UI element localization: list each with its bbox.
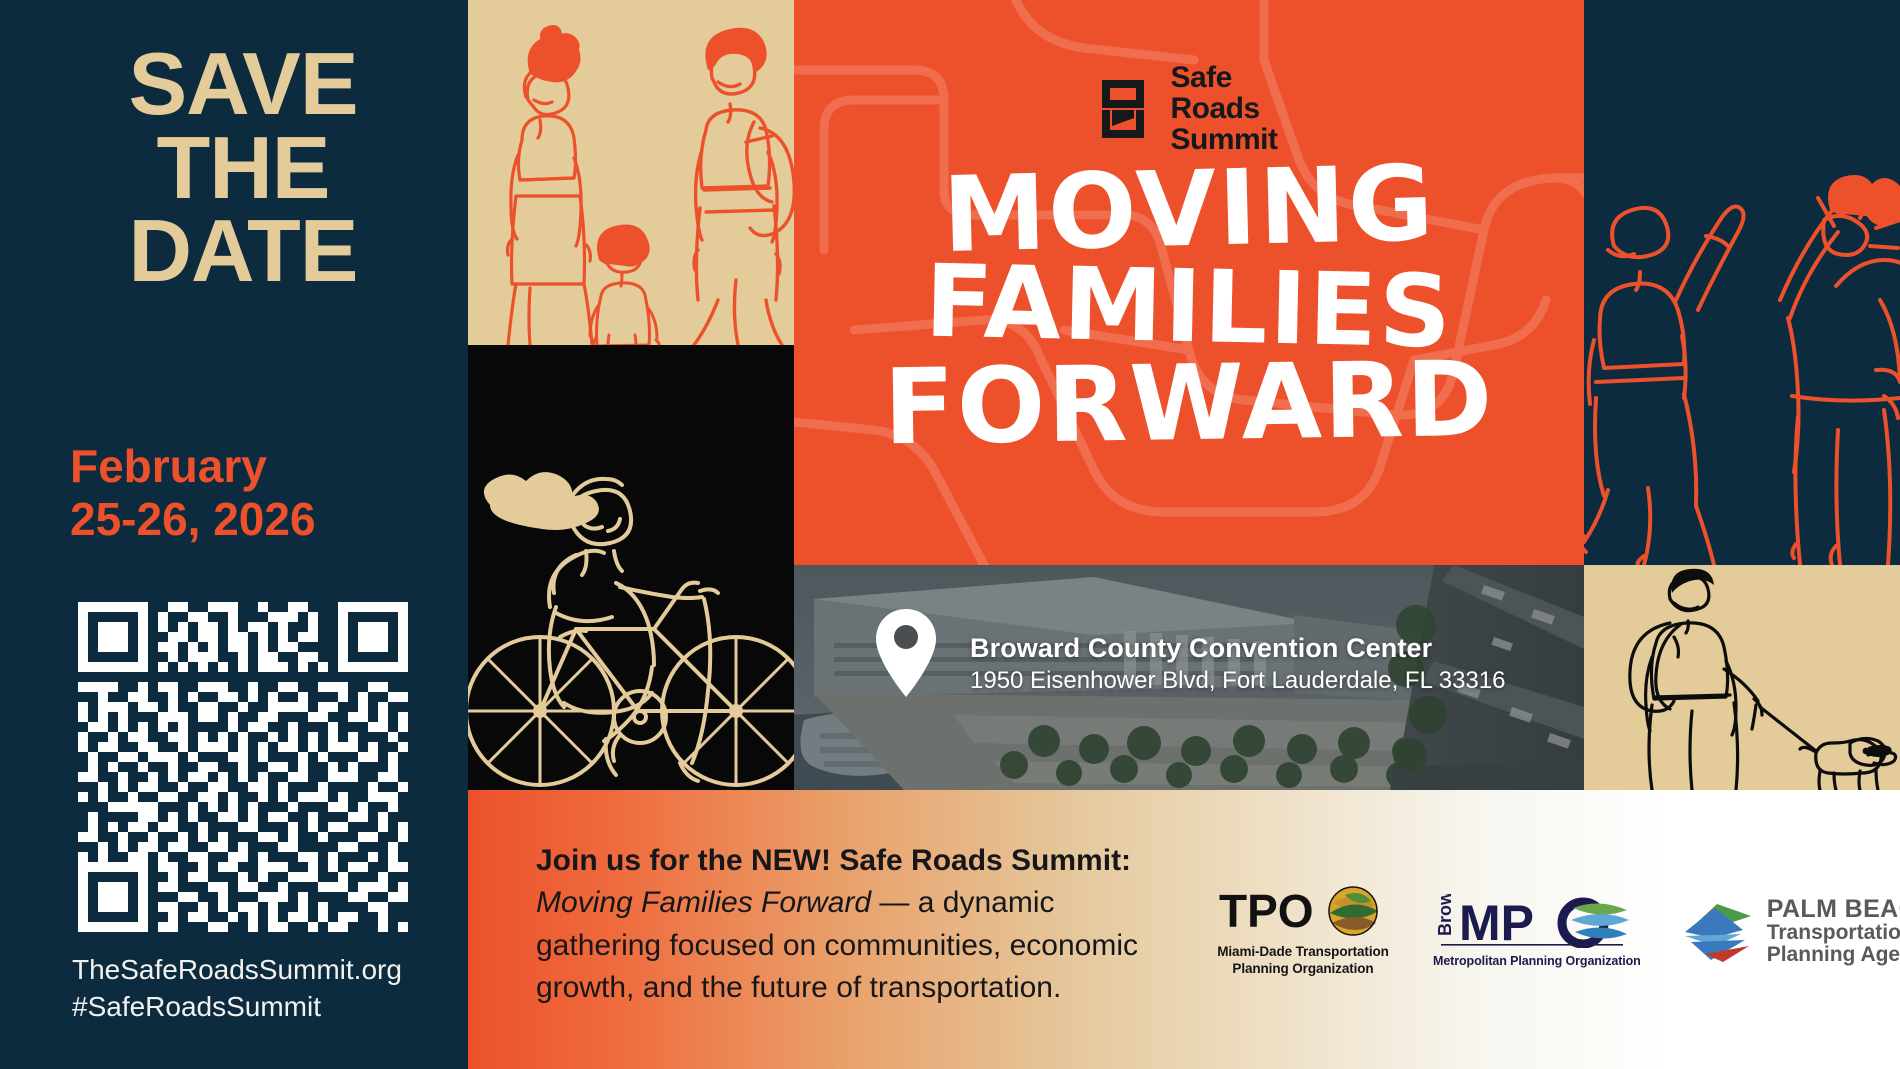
tpo-line-2: Planning Organization [1213,961,1393,977]
partner-logos: TPO Miami-Dade Transportation Planning O… [1213,866,1873,996]
blurb-italic: Moving Families Forward [536,886,871,919]
broward-mpo-logomark: Broward MP [1433,894,1629,948]
sidebar: SAVE THE DATE February 25-26, 2026 [0,0,468,1069]
heading-line-save: SAVE [78,42,408,126]
qr-code[interactable] [78,602,408,932]
website-link[interactable]: TheSafeRoadsSummit.org [72,952,452,989]
headline-line-forward: FORWARD [794,348,1584,458]
partner-logo-broward-mpo[interactable]: Broward MP Metropolitan Planning Organiz… [1433,894,1641,969]
svg-text:TPO: TPO [1219,885,1314,937]
venue-details: Broward County Convention Center 1950 Ei… [970,633,1505,695]
venue-name: Broward County Convention Center [970,633,1505,664]
palm-beach-tpa-name: PALM BEACH Transportation Planning Agenc… [1767,896,1900,967]
heading-line-the: THE [78,126,408,210]
save-the-date-heading: SAVE THE DATE [78,42,408,293]
hero-headline: MOVING FAMILIES FORWARD [794,160,1584,453]
celebrating-people-illustration [1584,0,1900,565]
hashtag-label: #SafeRoadsSummit [72,989,452,1026]
event-date: February 25-26, 2026 [70,440,430,546]
svg-text:MP: MP [1459,895,1534,948]
partner-logo-palm-beach-tpa[interactable]: PALM BEACH Transportation Planning Agenc… [1681,896,1900,967]
event-days: 25-26, 2026 [70,493,430,546]
blurb-bold: Join us for the NEW! Safe Roads Summit: [536,844,1131,877]
heading-line-date: DATE [78,209,408,293]
map-pin-icon [874,607,938,699]
venue-photo-strip: Broward County Convention Center 1950 Ei… [794,565,1584,790]
dog-walker-illustration [1584,565,1900,790]
pb-line-2: Transportation [1767,922,1900,944]
safe-roads-summit-logomark [1100,78,1156,140]
tpo-line-1: Miami-Dade Transportation [1213,944,1393,960]
partner-logo-tpo[interactable]: TPO Miami-Dade Transportation Planning O… [1213,885,1393,977]
pedestrian-family-illustration [468,0,794,345]
bottom-band: Join us for the NEW! Safe Roads Summit: … [468,790,1900,1069]
tpo-org-name: Miami-Dade Transportation Planning Organ… [1213,944,1393,977]
logo-line-safe: Safe [1170,62,1277,93]
cyclist-illustration [468,345,794,790]
sidebar-links: TheSafeRoadsSummit.org #SafeRoadsSummit [72,952,452,1026]
event-blurb: Join us for the NEW! Safe Roads Summit: … [536,840,1176,1009]
safe-roads-summit-logo: Safe Roads Summit [794,62,1584,156]
tpo-logomark: TPO [1213,885,1393,937]
venue-address: 1950 Eisenhower Blvd, Fort Lauderdale, F… [970,667,1505,695]
hero-panel: Safe Roads Summit MOVING FAMILIES FORWAR… [794,0,1584,565]
pb-line-1: PALM BEACH [1767,896,1900,923]
mpo-org-name: Metropolitan Planning Organization [1433,954,1641,969]
pb-line-3: Planning Agency [1767,944,1900,966]
safe-roads-summit-wordmark: Safe Roads Summit [1170,62,1277,156]
event-month: February [70,440,430,493]
palm-beach-tpa-logomark [1681,896,1757,966]
logo-line-roads: Roads [1170,93,1277,124]
save-the-date-poster: SAVE THE DATE February 25-26, 2026 [0,0,1900,1069]
svg-text:Broward: Broward [1435,894,1455,936]
